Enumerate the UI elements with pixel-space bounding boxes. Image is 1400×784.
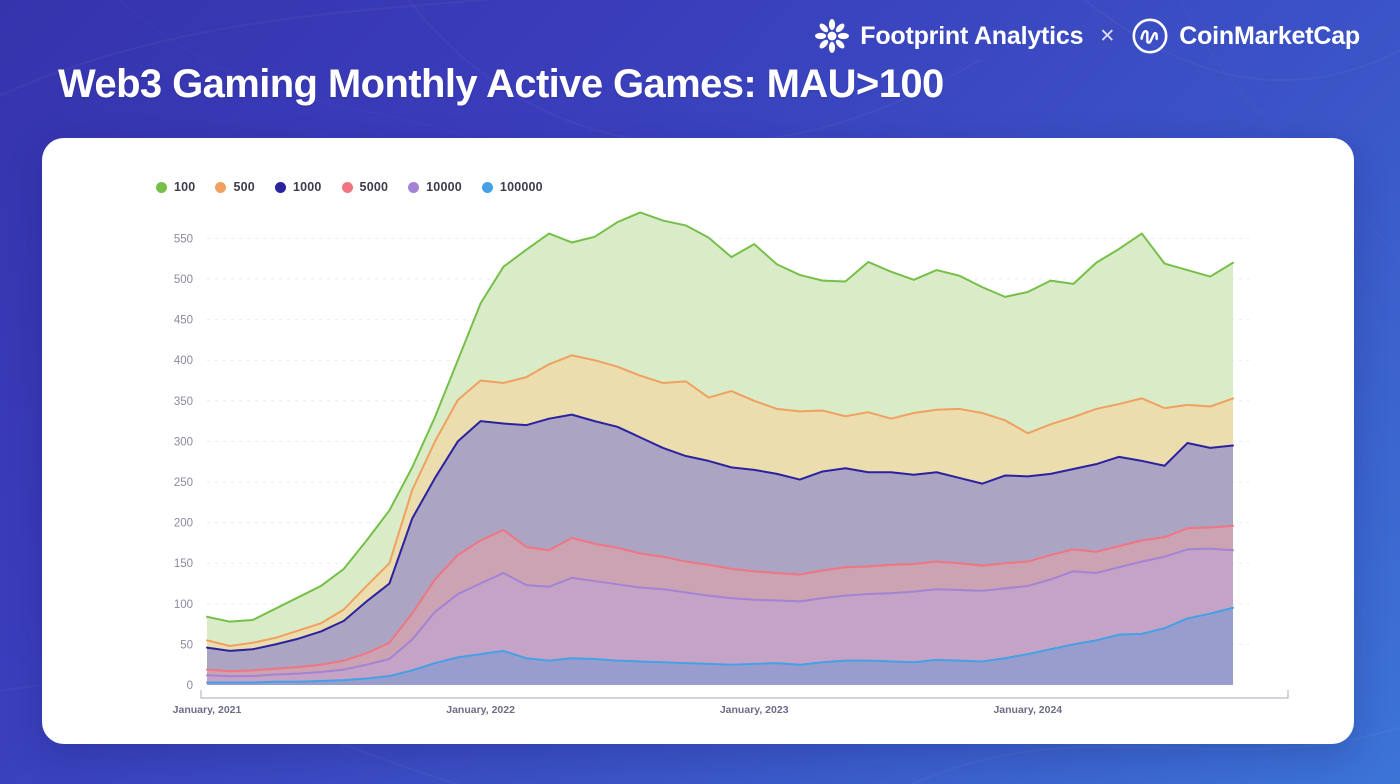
coinmarketcap-name: CoinMarketCap	[1179, 22, 1360, 51]
y-axis-tick-label: 250	[174, 477, 193, 489]
x-axis-tick-label: January, 2022	[446, 704, 515, 716]
area-chart: 050100150200250300350400450500550January…	[42, 138, 1354, 744]
y-axis-tick-label: 500	[174, 274, 193, 286]
x-axis-tick-label: January, 2021	[173, 704, 242, 716]
coinmarketcap-brand: CoinMarketCap	[1131, 17, 1360, 55]
y-axis-tick-label: 100	[174, 599, 193, 611]
footprint-burst-icon	[814, 18, 850, 54]
cross-icon: ✕	[1097, 25, 1117, 48]
y-axis-tick-label: 550	[174, 233, 193, 245]
y-axis-tick-label: 350	[174, 396, 193, 408]
coinmarketcap-m-icon	[1131, 17, 1169, 55]
x-axis-line	[201, 690, 1288, 698]
x-axis-tick-label: January, 2024	[993, 704, 1062, 716]
page-title: Web3 Gaming Monthly Active Games: MAU>10…	[58, 62, 944, 107]
y-axis-tick-label: 50	[180, 639, 193, 651]
footprint-analytics-name: Footprint Analytics	[860, 22, 1083, 51]
y-axis-tick-label: 400	[174, 355, 193, 367]
y-axis-tick-label: 450	[174, 315, 193, 327]
y-axis-tick-label: 200	[174, 518, 193, 530]
x-axis-tick-label: January, 2023	[720, 704, 789, 716]
y-axis-tick-label: 300	[174, 436, 193, 448]
y-axis-tick-label: 0	[187, 680, 193, 692]
chart-area: 050100150200250300350400450500550January…	[42, 138, 1354, 744]
footprint-analytics-brand: Footprint Analytics	[814, 18, 1083, 54]
brand-header: Footprint Analytics ✕ CoinMarketCap	[814, 14, 1360, 58]
y-axis-tick-label: 150	[174, 558, 193, 570]
chart-card: 1005001000500010000100000 05010015020025…	[42, 138, 1354, 744]
